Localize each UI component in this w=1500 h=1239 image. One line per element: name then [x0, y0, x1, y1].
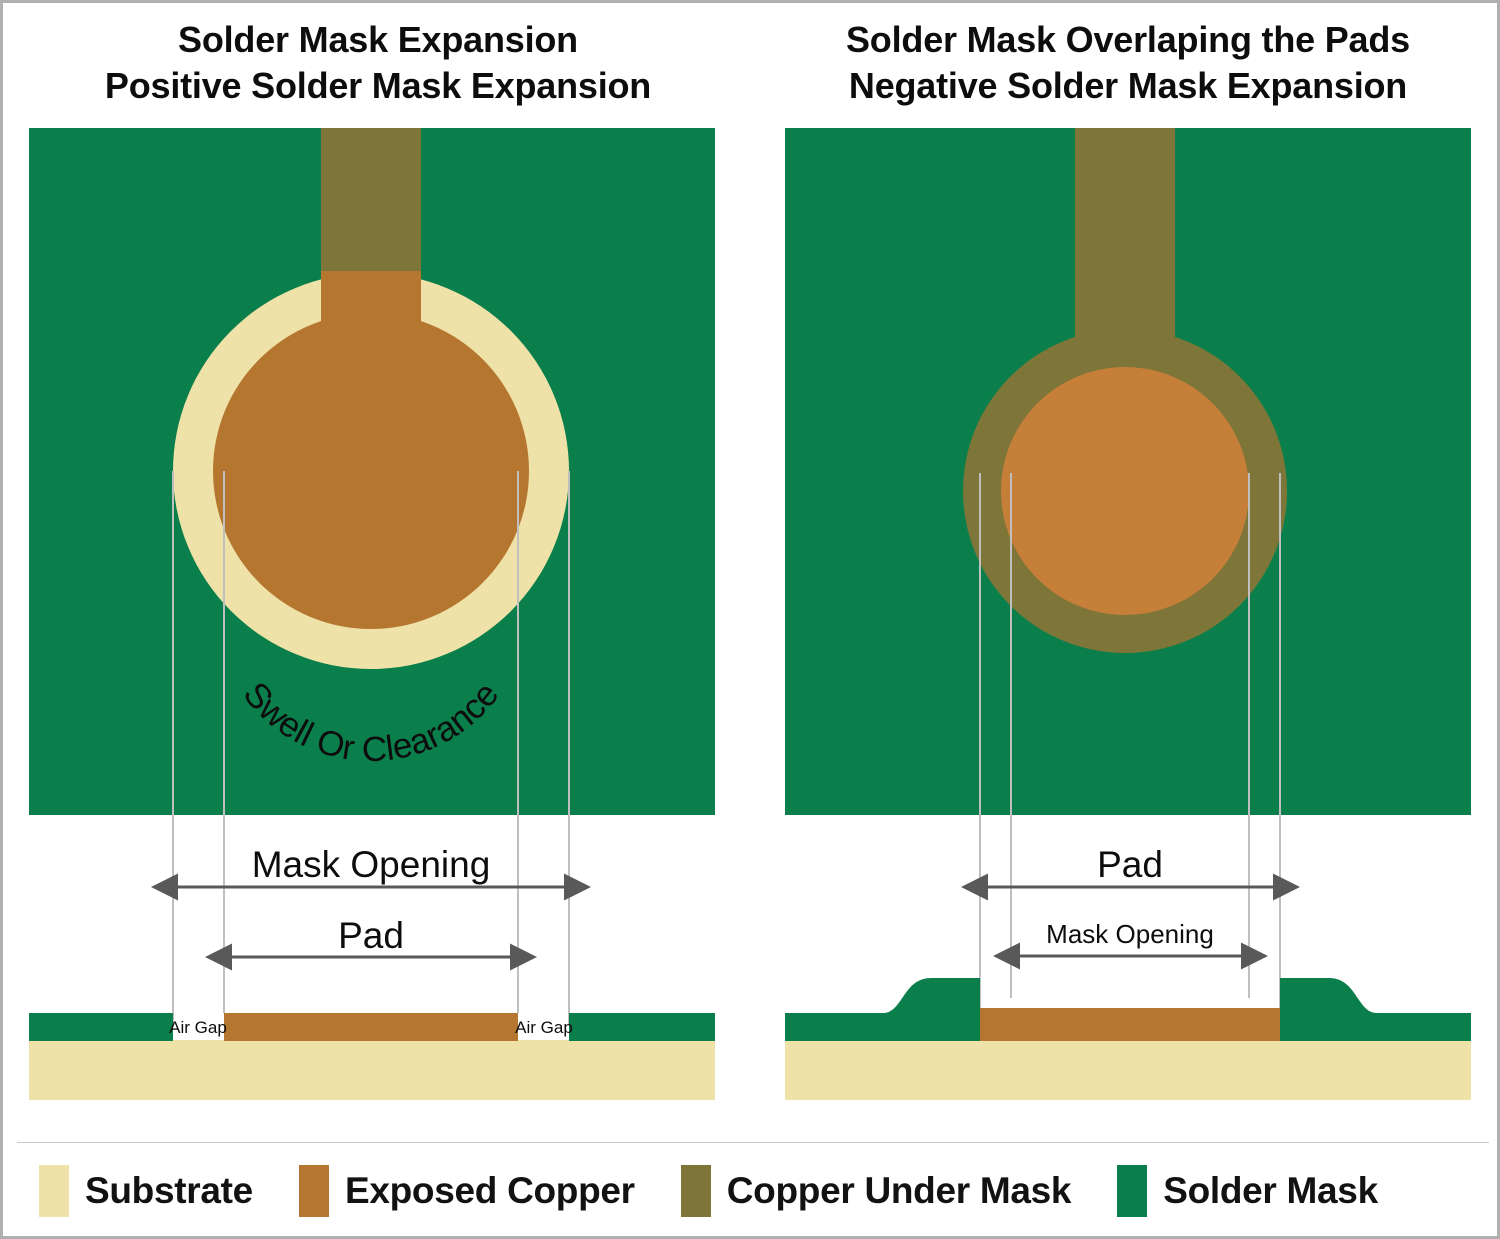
dimension-label-pad: Pad	[1097, 844, 1163, 885]
negative-expansion-graphic: Pad Mask Opening	[753, 3, 1500, 1138]
legend-item-substrate: Substrate	[39, 1165, 253, 1217]
legend-label-copper-under-mask: Copper Under Mask	[727, 1170, 1071, 1212]
cross-section-pad-copper	[224, 1013, 518, 1041]
positive-expansion-graphic: Swell Or Clearance Mask Opening Pad	[3, 3, 753, 1138]
dimension-label-pad: Pad	[338, 915, 404, 956]
trace-copper-under-mask	[321, 128, 421, 288]
legend-swatch-solder-mask	[1117, 1165, 1147, 1217]
cross-section-solder-mask-left	[29, 1013, 173, 1041]
legend-swatch-exposed-copper	[299, 1165, 329, 1217]
cross-section-solder-mask-right	[1280, 978, 1471, 1041]
pad-exposed-copper-top-view	[213, 313, 529, 629]
diagram-page: Solder Mask Expansion Positive Solder Ma…	[0, 0, 1500, 1239]
panel-positive-expansion: Solder Mask Expansion Positive Solder Ma…	[3, 3, 753, 1138]
legend-label-exposed-copper: Exposed Copper	[345, 1170, 635, 1212]
cross-section-substrate	[29, 1040, 715, 1100]
air-gap-label-right: Air Gap	[515, 1018, 573, 1037]
cross-section-solder-mask-left	[785, 978, 980, 1041]
legend-label-substrate: Substrate	[85, 1170, 253, 1212]
cross-section-pad-copper	[980, 1008, 1280, 1041]
dimension-label-mask-opening: Mask Opening	[1046, 919, 1214, 949]
legend-swatch-substrate	[39, 1165, 69, 1217]
legend-item-exposed-copper: Exposed Copper	[299, 1165, 635, 1217]
legend-item-solder-mask: Solder Mask	[1117, 1165, 1378, 1217]
dimension-label-mask-opening: Mask Opening	[252, 844, 491, 885]
legend-swatch-copper-under-mask	[681, 1165, 711, 1217]
legend-label-solder-mask: Solder Mask	[1163, 1170, 1378, 1212]
cross-section-solder-mask-right	[569, 1013, 715, 1041]
cross-section-substrate	[785, 1040, 1471, 1100]
legend: Substrate Exposed Copper Copper Under Ma…	[3, 1142, 1500, 1239]
legend-item-copper-under-mask: Copper Under Mask	[681, 1165, 1071, 1217]
pad-exposed-copper-top-view	[1001, 367, 1249, 615]
panel-negative-expansion: Solder Mask Overlaping the Pads Negative…	[753, 3, 1500, 1138]
legend-divider	[17, 1142, 1489, 1143]
air-gap-label-left: Air Gap	[169, 1018, 227, 1037]
